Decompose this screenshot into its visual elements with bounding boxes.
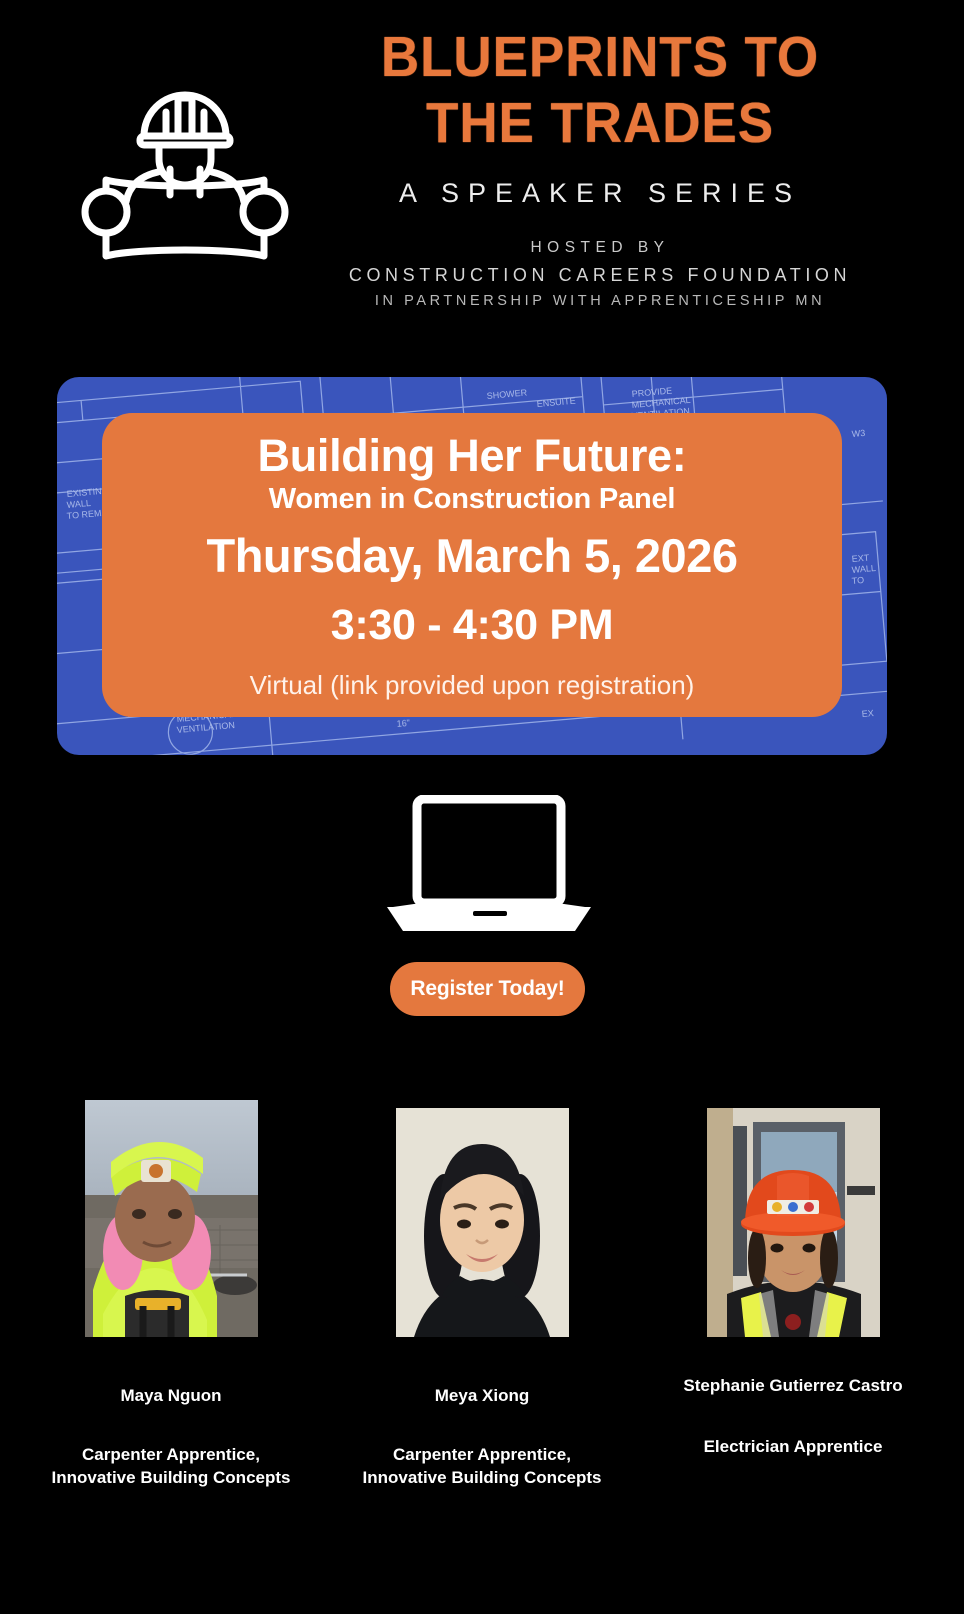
- event-time: 3:30 - 4:30 PM: [331, 601, 614, 650]
- svg-text:16": 16": [396, 718, 410, 729]
- event-poster: BLUEPRINTS TO THE TRADES A SPEAKER SERIE…: [0, 0, 964, 1614]
- event-date: Thursday, March 5, 2026: [207, 528, 738, 583]
- hosted-by-label: HOSTED BY: [300, 239, 900, 257]
- speaker-role: Electrician Apprentice: [638, 1436, 949, 1458]
- blueprint-panel: PROVIDE MECHANICAL VENTILATION SHOWER EN…: [57, 377, 887, 755]
- event-details-card: Building Her Future: Women in Constructi…: [102, 413, 842, 717]
- hosted-block: HOSTED BY CONSTRUCTION CAREERS FOUNDATIO…: [300, 239, 900, 309]
- construction-worker-blueprint-icon: [74, 52, 296, 264]
- header-text-block: BLUEPRINTS TO THE TRADES A SPEAKER SERIE…: [300, 30, 900, 309]
- speaker-card: Maya Nguon Carpenter Apprentice, Innovat…: [16, 1100, 327, 1489]
- title-line-2: THE TRADES: [321, 96, 879, 152]
- poster-title: BLUEPRINTS TO THE TRADES: [321, 30, 879, 152]
- laptop-icon: [385, 795, 593, 935]
- hosted-organization: CONSTRUCTION CAREERS FOUNDATION: [300, 265, 900, 286]
- svg-text:EXT: EXT: [851, 552, 870, 564]
- svg-text:EX: EX: [861, 708, 874, 719]
- speaker-card: Meya Xiong Carpenter Apprentice, Innovat…: [327, 1100, 638, 1489]
- event-subtitle: Women in Construction Panel: [269, 483, 676, 516]
- svg-text:SHOWER: SHOWER: [486, 387, 528, 401]
- poster-header: BLUEPRINTS TO THE TRADES A SPEAKER SERIE…: [0, 0, 964, 352]
- event-location: Virtual (link provided upon registration…: [250, 670, 695, 701]
- speaker-photo: [85, 1100, 258, 1337]
- speaker-photo: [707, 1108, 880, 1337]
- speaker-name: Maya Nguon: [16, 1385, 327, 1406]
- register-today-button[interactable]: Register Today!: [390, 962, 585, 1016]
- poster-subtitle: A SPEAKER SERIES: [300, 178, 900, 209]
- speakers-row: Maya Nguon Carpenter Apprentice, Innovat…: [0, 1100, 964, 1489]
- speaker-role: Carpenter Apprentice, Innovative Buildin…: [327, 1444, 638, 1489]
- svg-text:W3: W3: [851, 428, 865, 439]
- speaker-role: Carpenter Apprentice, Innovative Buildin…: [16, 1444, 327, 1489]
- event-title: Building Her Future:: [258, 431, 687, 481]
- svg-text:WALL: WALL: [66, 498, 91, 510]
- speaker-name: Meya Xiong: [327, 1385, 638, 1406]
- speaker-card: Stephanie Gutierrez Castro Electrician A…: [638, 1100, 949, 1489]
- hosted-partner: IN PARTNERSHIP WITH APPRENTICESHIP MN: [300, 293, 900, 309]
- title-line-1: BLUEPRINTS TO: [321, 30, 879, 86]
- svg-text:WALL: WALL: [851, 563, 876, 575]
- svg-text:ENSUITE: ENSUITE: [536, 396, 576, 409]
- svg-text:TO: TO: [851, 575, 864, 586]
- speaker-photo: [396, 1108, 569, 1337]
- speaker-name: Stephanie Gutierrez Castro: [638, 1375, 949, 1396]
